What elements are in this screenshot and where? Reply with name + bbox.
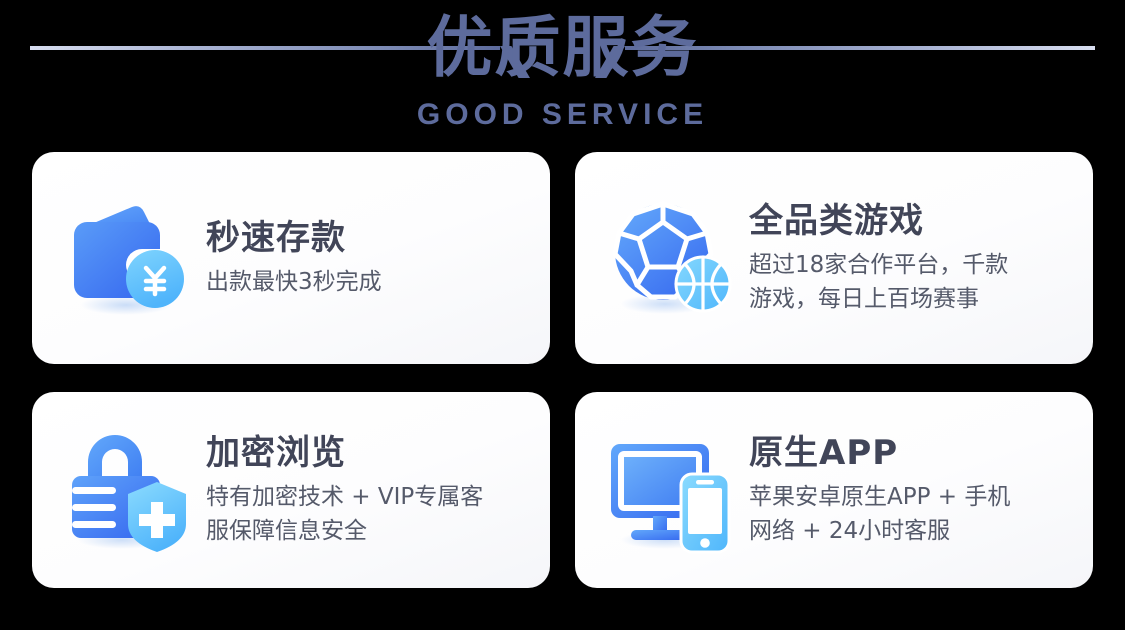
wallet-yen-icon [60, 192, 192, 324]
card-description: 超过18家合作平台，千款 游戏，每日上百场赛事 [749, 248, 1008, 316]
page-title: 优质服务 [0, 8, 1125, 88]
card-description: 特有加密技术 + VIP专属客 服保障信息安全 [206, 480, 483, 548]
card-description: 苹果安卓原生APP + 手机 网络 + 24小时客服 [749, 480, 1010, 548]
card-text-block: 秒速存款 出款最快3秒完成 [206, 217, 382, 299]
soccer-basketball-icon [603, 192, 735, 324]
feature-card-encryption[interactable]: 加密浏览 特有加密技术 + VIP专属客 服保障信息安全 [32, 392, 550, 588]
lock-shield-icon [60, 424, 192, 556]
card-description-line: 出款最快3秒完成 [206, 265, 382, 299]
card-title: 秒速存款 [206, 217, 382, 259]
card-title: 全品类游戏 [749, 200, 1008, 242]
feature-card-games[interactable]: 全品类游戏 超过18家合作平台，千款 游戏，每日上百场赛事 [575, 152, 1093, 364]
promo-banner: 优质服务 GOOD SERVICE [0, 0, 1125, 630]
card-description-line: 服保障信息安全 [206, 514, 483, 548]
card-title: 加密浏览 [206, 432, 483, 474]
card-description: 出款最快3秒完成 [206, 265, 382, 299]
card-description-line: 网络 + 24小时客服 [749, 514, 1010, 548]
card-description-line: 特有加密技术 + VIP专属客 [206, 480, 483, 514]
card-text-block: 原生APP 苹果安卓原生APP + 手机 网络 + 24小时客服 [749, 432, 1010, 548]
card-description-line: 苹果安卓原生APP + 手机 [749, 480, 1010, 514]
feature-card-deposit[interactable]: 秒速存款 出款最快3秒完成 [32, 152, 550, 364]
banner-header: 优质服务 GOOD SERVICE [0, 0, 1125, 150]
feature-card-grid: 秒速存款 出款最快3秒完成 [32, 152, 1093, 592]
card-text-block: 全品类游戏 超过18家合作平台，千款 游戏，每日上百场赛事 [749, 200, 1008, 316]
card-text-block: 加密浏览 特有加密技术 + VIP专属客 服保障信息安全 [206, 432, 483, 548]
feature-card-native-app[interactable]: 原生APP 苹果安卓原生APP + 手机 网络 + 24小时客服 [575, 392, 1093, 588]
page-subtitle: GOOD SERVICE [0, 98, 1125, 132]
monitor-phone-icon [603, 424, 735, 556]
card-title: 原生APP [749, 432, 1010, 474]
card-description-line: 超过18家合作平台，千款 [749, 248, 1008, 282]
card-description-line: 游戏，每日上百场赛事 [749, 282, 1008, 316]
